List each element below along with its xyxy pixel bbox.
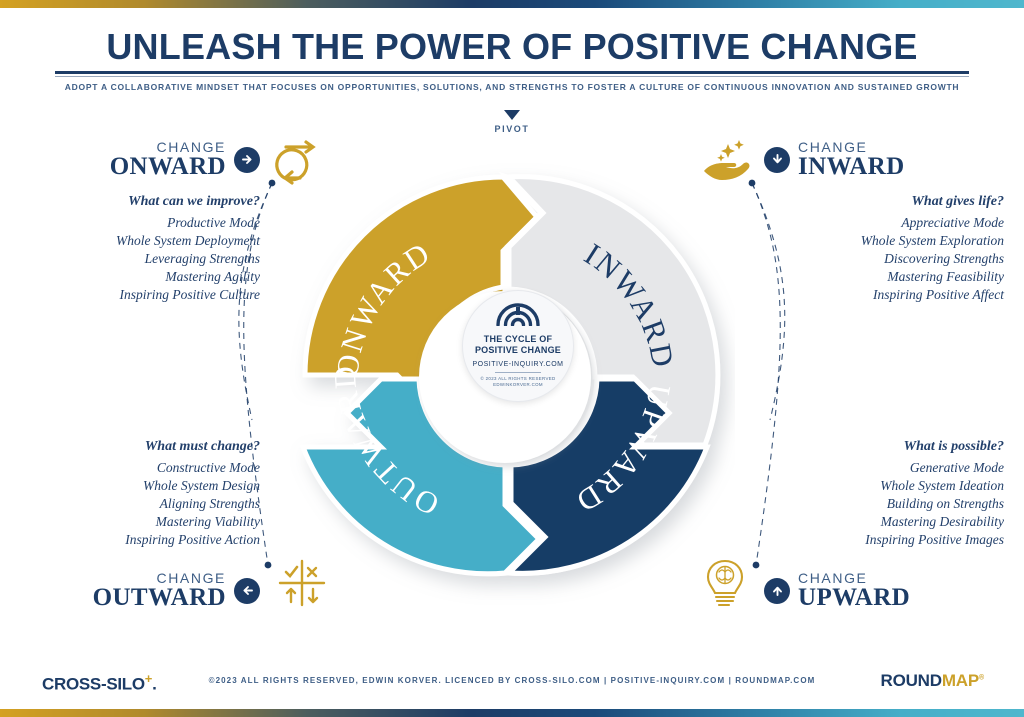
quadrant-outward-question: What must change? <box>20 438 260 456</box>
connector-dot-upward <box>753 562 760 569</box>
triangle-down-icon <box>504 110 520 120</box>
quadrant-outward-change: CHANGE <box>93 571 226 585</box>
list-item: Generative Mode <box>764 459 1004 477</box>
hub-author: EDWINKORVER.COM <box>493 382 543 388</box>
footer: CROSS-SILO+. ©2023 ALL RIGHTS RESERVED, … <box>0 657 1024 709</box>
cycle-arrow-icon <box>270 138 326 193</box>
top-gradient-bar <box>0 0 1024 8</box>
quadrant-inward-word: INWARD <box>798 154 905 179</box>
arrow-up-icon[interactable] <box>764 578 790 604</box>
arrow-down-icon[interactable] <box>764 147 790 173</box>
title-divider-thin <box>55 76 969 77</box>
title-divider <box>55 71 969 74</box>
list-item: Leveraging Strengths <box>20 250 260 268</box>
quadrant-inward: CHANGE INWARD What gives life? Appreciat… <box>764 140 1004 304</box>
quadrant-onward-change: CHANGE <box>110 140 226 154</box>
pivot-label: PIVOT <box>0 124 1024 134</box>
roundmap-wordmark-1: ROUND <box>881 671 942 690</box>
list-item: Building on Strengths <box>764 495 1004 513</box>
infographic-canvas: UNLEASH THE POWER OF POSITIVE CHANGE ADO… <box>0 0 1024 717</box>
list-item: Mastering Viability <box>20 513 260 531</box>
quadrant-outward: What must change? Constructive Mode Whol… <box>20 438 260 610</box>
footer-credit: ©2023 ALL RIGHTS RESERVED, EDWIN KORVER.… <box>0 676 1024 685</box>
quadrant-inward-question: What gives life? <box>764 193 1004 211</box>
quadrant-onward-question: What can we improve? <box>20 193 260 211</box>
quadrant-inward-heading[interactable]: CHANGE INWARD <box>764 140 1004 179</box>
list-item: Whole System Exploration <box>764 232 1004 250</box>
quadrant-grid-icon <box>277 558 327 613</box>
hub-title-line2: POSITIVE CHANGE <box>475 345 561 356</box>
page-title: UNLEASH THE POWER OF POSITIVE CHANGE <box>0 26 1024 68</box>
roundmap-arcs-icon <box>495 300 541 331</box>
list-item: Whole System Ideation <box>764 477 1004 495</box>
pivot-marker: PIVOT <box>0 110 1024 134</box>
quadrant-upward-heading[interactable]: CHANGE UPWARD <box>764 571 1004 610</box>
page-subtitle: ADOPT A COLLABORATIVE MINDSET THAT FOCUS… <box>0 82 1024 92</box>
list-item: Productive Mode <box>20 214 260 232</box>
quadrant-outward-list: What must change? Constructive Mode Whol… <box>20 438 260 549</box>
list-item: Mastering Feasibility <box>764 268 1004 286</box>
quadrant-upward-word: UPWARD <box>798 585 910 610</box>
quadrant-onward-heading[interactable]: CHANGE ONWARD <box>20 140 260 179</box>
arrow-right-icon[interactable] <box>234 147 260 173</box>
list-item: Discovering Strengths <box>764 250 1004 268</box>
hub-title-line1: THE CYCLE OF <box>484 334 552 345</box>
quadrant-inward-list: What gives life? Appreciative Mode Whole… <box>764 193 1004 304</box>
connector-dot-outward <box>265 562 272 569</box>
list-item: Mastering Agility <box>20 268 260 286</box>
quadrant-onward: CHANGE ONWARD What can we improve? Produ… <box>20 140 260 304</box>
hub-divider <box>495 372 541 373</box>
list-item: Inspiring Positive Culture <box>20 286 260 304</box>
list-item: Inspiring Positive Affect <box>764 286 1004 304</box>
list-item: Inspiring Positive Action <box>20 531 260 549</box>
quadrant-outward-word: OUTWARD <box>93 585 226 610</box>
hub-website[interactable]: POSITIVE-INQUIRY.COM <box>472 361 563 368</box>
list-item: Inspiring Positive Images <box>764 531 1004 549</box>
hub-card: THE CYCLE OF POSITIVE CHANGE POSITIVE-IN… <box>462 290 574 402</box>
quadrant-inward-change: CHANGE <box>798 140 905 154</box>
hand-sparkle-icon <box>698 138 754 193</box>
quadrant-onward-word: ONWARD <box>110 154 226 179</box>
quadrant-onward-list: What can we improve? Productive Mode Who… <box>20 193 260 304</box>
quadrant-upward-question: What is possible? <box>764 438 1004 456</box>
arrow-left-icon[interactable] <box>234 578 260 604</box>
quadrant-upward: What is possible? Generative Mode Whole … <box>764 438 1004 610</box>
list-item: Mastering Desirability <box>764 513 1004 531</box>
quadrant-upward-change: CHANGE <box>798 571 910 585</box>
list-item: Whole System Design <box>20 477 260 495</box>
quadrant-upward-list: What is possible? Generative Mode Whole … <box>764 438 1004 549</box>
header: UNLEASH THE POWER OF POSITIVE CHANGE ADO… <box>0 8 1024 98</box>
list-item: Appreciative Mode <box>764 214 1004 232</box>
roundmap-logo[interactable]: ROUNDMAP® <box>881 671 985 691</box>
list-item: Aligning Strengths <box>20 495 260 513</box>
bottom-gradient-bar <box>0 709 1024 717</box>
roundmap-wordmark-2: MAP <box>942 671 979 690</box>
list-item: Constructive Mode <box>20 459 260 477</box>
lightbulb-icon <box>700 558 750 615</box>
list-item: Whole System Deployment <box>20 232 260 250</box>
quadrant-outward-heading[interactable]: CHANGE OUTWARD <box>20 571 260 610</box>
